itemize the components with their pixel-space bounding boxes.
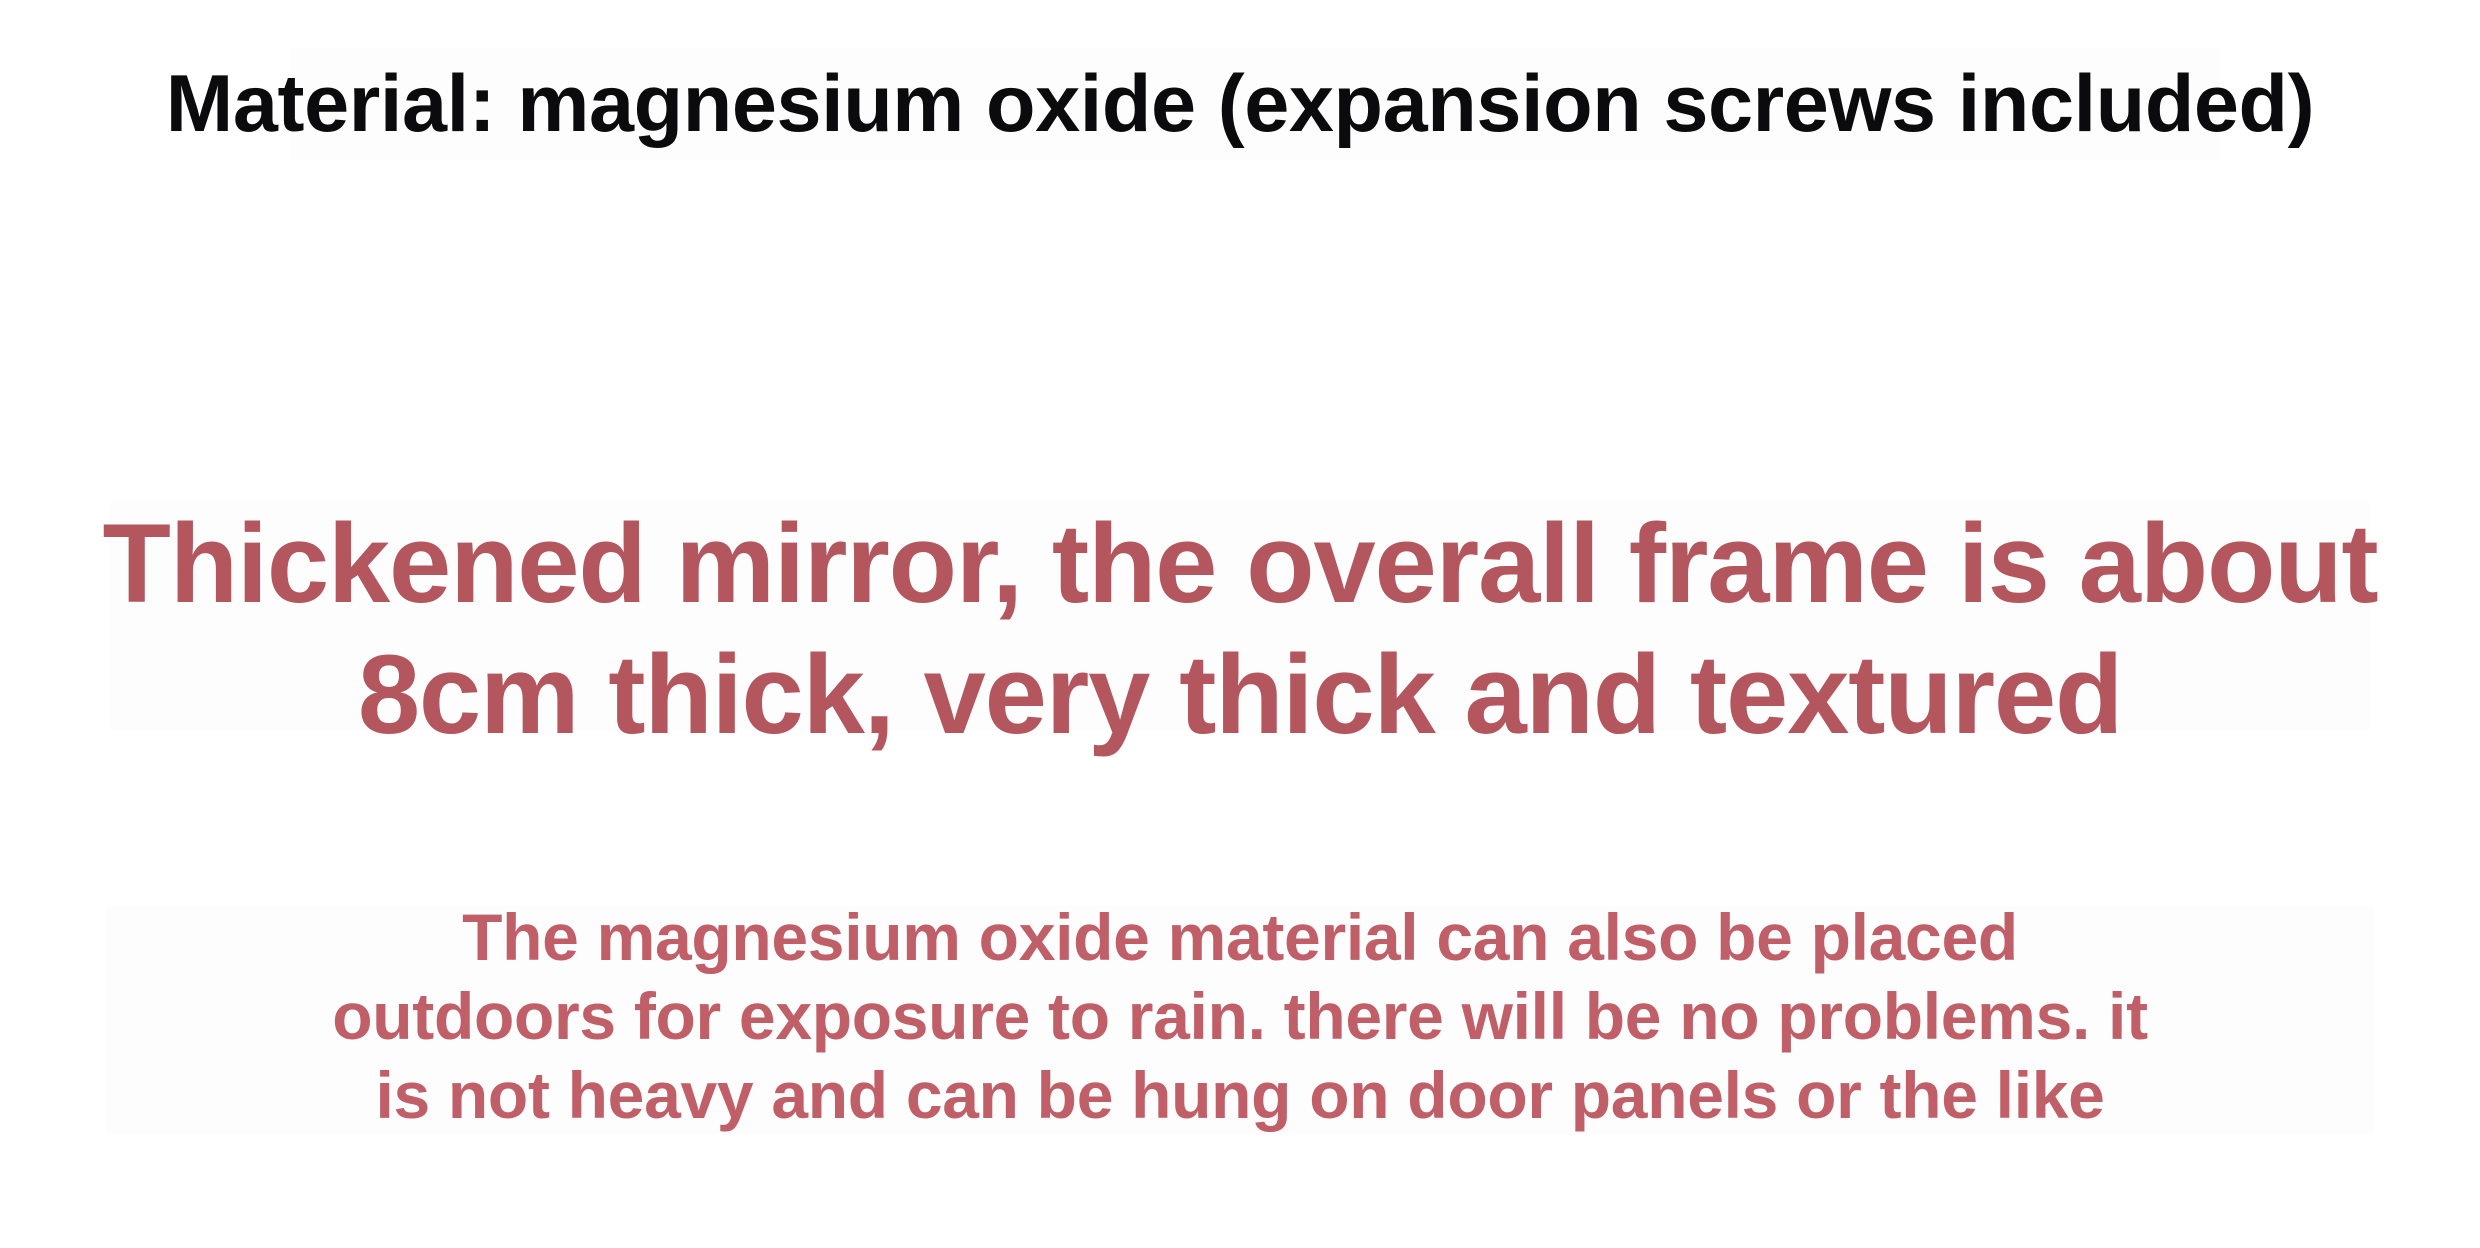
product-description-graphic: Material: magnesium oxide (expansion scr… (0, 0, 2480, 1248)
feature-headline-text: Thickened mirror, the overall frame is a… (0, 498, 2480, 760)
feature-description-line-2: outdoors for exposure to rain. there wil… (0, 977, 2480, 1056)
feature-headline-line-1: Thickened mirror, the overall frame is a… (0, 498, 2480, 629)
feature-description-line-1: The magnesium oxide material can also be… (0, 898, 2480, 977)
material-heading-text: Material: magnesium oxide (expansion scr… (166, 58, 2314, 152)
feature-headline-line-2: 8cm thick, very thick and textured (0, 629, 2480, 760)
feature-description-line-3: is not heavy and can be hung on door pan… (0, 1056, 2480, 1135)
material-heading: Material: magnesium oxide (expansion scr… (0, 58, 2480, 152)
feature-headline: Thickened mirror, the overall frame is a… (0, 498, 2480, 760)
feature-description: The magnesium oxide material can also be… (0, 898, 2480, 1136)
feature-description-text: The magnesium oxide material can also be… (0, 898, 2480, 1136)
